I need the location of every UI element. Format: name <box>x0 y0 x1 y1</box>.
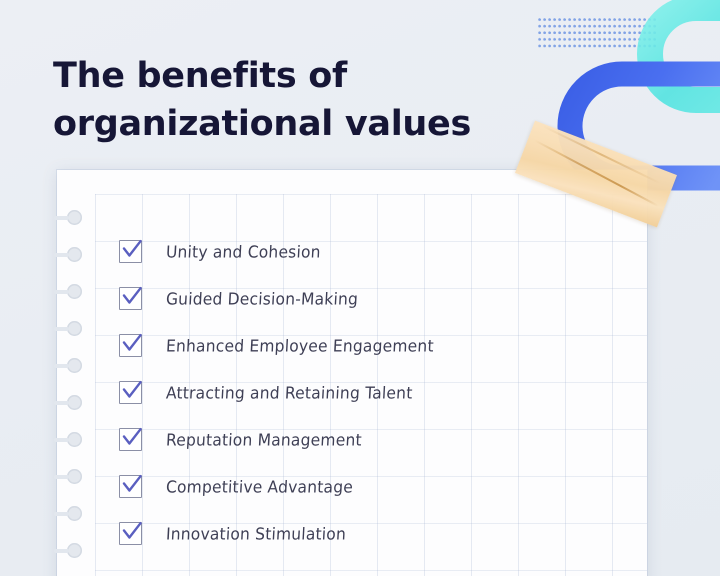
checklist-item[interactable]: Enhanced Employee Engagement <box>119 322 619 369</box>
checkbox-checked-icon[interactable] <box>119 240 142 263</box>
checklist-item[interactable]: Competitive Advantage <box>119 463 619 510</box>
checklist-item[interactable]: Reputation Management <box>119 416 619 463</box>
checkbox-checked-icon[interactable] <box>119 522 142 545</box>
binding-ring <box>67 543 82 558</box>
cyan-loop-ribbon <box>650 8 720 100</box>
checklist-item-label: Competitive Advantage <box>166 477 354 496</box>
page-title: The benefits of organizational values <box>53 52 523 148</box>
checkbox-checked-icon[interactable] <box>119 381 142 404</box>
slide-canvas: The benefits of organizational values Un… <box>0 0 720 576</box>
dot-grid-pattern <box>538 18 658 48</box>
checkbox-checked-icon[interactable] <box>119 334 142 357</box>
checklist-item[interactable]: Attracting and Retaining Talent <box>119 369 619 416</box>
checkbox-checked-icon[interactable] <box>119 287 142 310</box>
checkbox-checked-icon[interactable] <box>119 428 142 451</box>
checklist-item[interactable]: Unity and Cohesion <box>119 228 619 275</box>
binding-ring <box>67 469 82 484</box>
checkbox-checked-icon[interactable] <box>119 475 142 498</box>
checklist-item-label: Guided Decision-Making <box>166 289 359 308</box>
binding-ring <box>67 358 82 373</box>
checklist-item-label: Unity and Cohesion <box>166 242 322 261</box>
notepad-paper: Unity and CohesionGuided Decision-Making… <box>57 170 647 576</box>
binding-ring <box>67 395 82 410</box>
checklist-item-label: Enhanced Employee Engagement <box>166 336 435 355</box>
binding-ring <box>67 210 82 225</box>
checklist-item[interactable]: Guided Decision-Making <box>119 275 619 322</box>
binding-ring <box>67 506 82 521</box>
binding-ring <box>67 284 82 299</box>
checklist-item-label: Innovation Stimulation <box>166 524 347 543</box>
binding-ring <box>67 432 82 447</box>
binding-ring <box>67 321 82 336</box>
checklist-item-label: Attracting and Retaining Talent <box>166 383 413 402</box>
binding-ring <box>67 247 82 262</box>
page-title-line-2: organizational values <box>53 100 523 148</box>
checklist-item[interactable]: Innovation Stimulation <box>119 510 619 557</box>
page-title-line-1: The benefits of <box>53 52 523 100</box>
spiral-binding <box>57 170 101 576</box>
checklist-item-label: Reputation Management <box>166 430 363 449</box>
benefits-checklist: Unity and CohesionGuided Decision-Making… <box>119 228 619 557</box>
